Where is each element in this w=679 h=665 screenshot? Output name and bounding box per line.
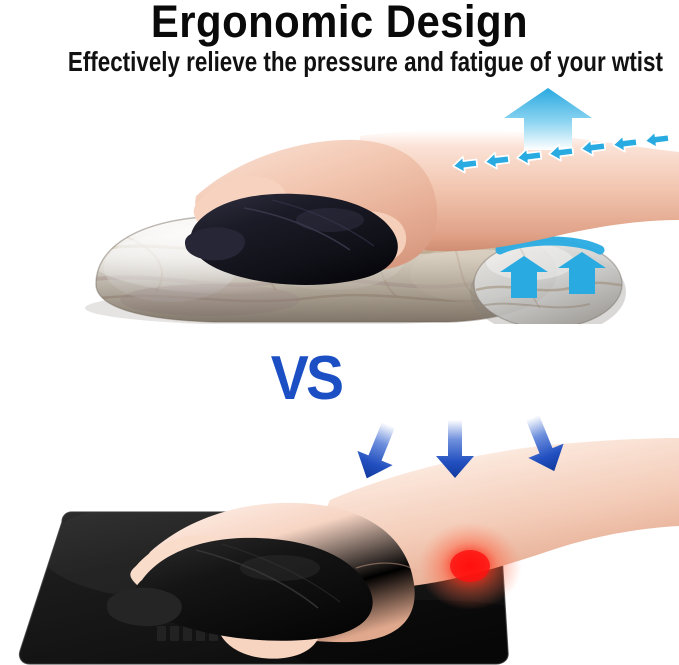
flat-pad-scene-illustration [0, 400, 679, 665]
page-subtitle: Effectively relieve the pressure and fat… [68, 47, 611, 77]
ergonomic-scene-illustration [0, 84, 679, 324]
page-title: Ergonomic Design [24, 0, 655, 46]
product-comparison-image: Ergonomic Design Effectively relieve the… [0, 0, 679, 665]
wrist-pain-hotspot [418, 522, 522, 610]
scene-flat-pad [0, 400, 679, 665]
gel-wrist-rest [470, 240, 640, 324]
pressure-down-arrow-icon [349, 418, 406, 486]
bloodflow-arrow-icon [644, 130, 670, 149]
scene-ergonomic-pad [0, 84, 679, 324]
